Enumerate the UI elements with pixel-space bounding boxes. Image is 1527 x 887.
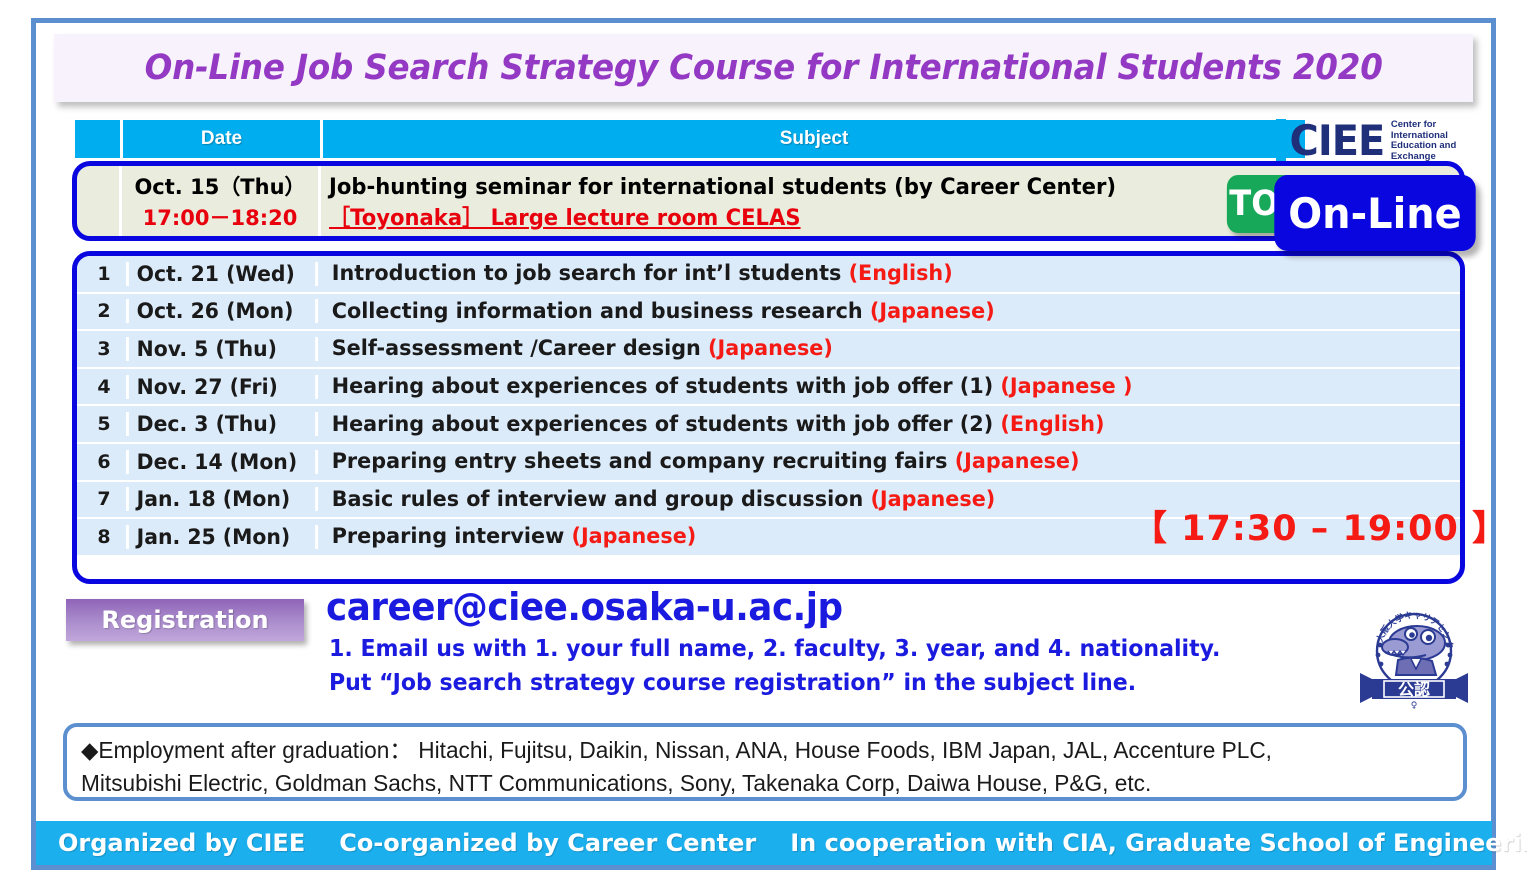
row-subject-text: Self-assessment /Career design bbox=[332, 336, 708, 361]
row-subject-text: Basic rules of interview and group discu… bbox=[332, 487, 871, 512]
ciee-tagline: Center for International Education and E… bbox=[1391, 120, 1456, 162]
row-date: Oct. 26 (Mon) bbox=[126, 299, 318, 323]
table-header-row: Date Subject bbox=[75, 120, 1305, 158]
highlight-time: 17:00－18:20 bbox=[125, 203, 315, 234]
footer-cooperation: In cooperation with CIA, Graduate School… bbox=[790, 829, 1527, 857]
page-title: On-Line Job Search Strategy Course for I… bbox=[144, 48, 1382, 88]
row-language-tag: (Japanese) bbox=[708, 336, 833, 361]
table-row: 5Dec. 3 (Thu)Hearing about experiences o… bbox=[77, 406, 1460, 442]
row-subject: Hearing about experiences of students wi… bbox=[324, 374, 1420, 399]
registration-badge: Registration bbox=[66, 599, 304, 641]
row-subject: Collecting information and business rese… bbox=[324, 299, 1420, 324]
row-subject-text: Introduction to job search for int’l stu… bbox=[332, 261, 849, 286]
highlight-seminar-box: Oct. 15（Thu） 17:00－18:20 Job-hunting sem… bbox=[72, 161, 1465, 241]
row-subject-text: Collecting information and business rese… bbox=[332, 299, 870, 324]
row-date: Jan. 18 (Mon) bbox=[126, 487, 318, 511]
row-language-tag: (Japanese) bbox=[870, 487, 995, 512]
row-number: 3 bbox=[82, 338, 126, 360]
mascot-icon: 公認 ♀ 大阪大学キャリアセンター bbox=[1354, 607, 1474, 709]
column-divider bbox=[119, 166, 122, 236]
poster-container: On-Line Job Search Strategy Course for I… bbox=[31, 18, 1496, 870]
row-number: 6 bbox=[82, 451, 126, 473]
svg-text:公認: 公認 bbox=[1398, 680, 1430, 699]
row-subject: Preparing entry sheets and company recru… bbox=[324, 449, 1420, 474]
row-language-tag: (Japanese) bbox=[571, 524, 696, 549]
table-row: 3Nov. 5 (Thu)Self-assessment /Career des… bbox=[77, 331, 1460, 367]
employment-line-2: Mitsubishi Electric, Goldman Sachs, NTT … bbox=[81, 767, 1428, 800]
row-date: Oct. 21 (Wed) bbox=[126, 262, 318, 286]
footer-organized: Organized by CIEE bbox=[58, 829, 305, 857]
column-divider bbox=[318, 166, 321, 236]
row-subject: Hearing about experiences of students wi… bbox=[324, 412, 1420, 437]
registration-instruction-line-2: Put “Job search strategy course registra… bbox=[329, 670, 1136, 696]
ciee-tagline-line-1: Center for bbox=[1391, 120, 1456, 131]
ciee-wordmark: CIEE bbox=[1289, 119, 1384, 163]
row-date: Nov. 27 (Fri) bbox=[126, 375, 318, 399]
registration-instruction-line-1: 1. Email us with 1. your full name, 2. f… bbox=[329, 636, 1220, 662]
table-header-subject: Subject bbox=[323, 120, 1305, 158]
row-language-tag: (English) bbox=[849, 261, 953, 286]
row-subject-text: Hearing about experiences of students wi… bbox=[332, 412, 1001, 437]
table-header-date: Date bbox=[123, 120, 323, 158]
ciee-logo: CIEE Center for International Education … bbox=[1276, 115, 1498, 167]
row-number: 4 bbox=[82, 376, 126, 398]
row-number: 5 bbox=[82, 413, 126, 435]
highlight-subject-line-1: Job-hunting seminar for international st… bbox=[329, 172, 1116, 203]
row-date: Dec. 14 (Mon) bbox=[126, 450, 318, 474]
row-number: 7 bbox=[82, 488, 126, 510]
row-number: 2 bbox=[82, 300, 126, 322]
row-language-tag: (Japanese) bbox=[870, 299, 995, 324]
row-subject-text: Hearing about experiences of students wi… bbox=[332, 374, 1001, 399]
footer-bar: Organized by CIEE Co-organized by Career… bbox=[36, 821, 1492, 865]
ciee-tagline-line-3: Education and bbox=[1391, 141, 1456, 152]
table-header-number bbox=[75, 120, 123, 158]
employment-box: ◆Employment after graduation： Hitachi, F… bbox=[63, 723, 1467, 801]
table-row: 2Oct. 26 (Mon)Collecting information and… bbox=[77, 294, 1460, 330]
row-date: Dec. 3 (Thu) bbox=[126, 412, 318, 436]
row-language-tag: (English) bbox=[1000, 412, 1104, 437]
table-row: 4Nov. 27 (Fri)Hearing about experiences … bbox=[77, 369, 1460, 405]
employment-line-1: ◆Employment after graduation： Hitachi, F… bbox=[81, 734, 1428, 767]
schedule-time-range: 【 17:30 – 19:00 】 bbox=[1132, 500, 1508, 551]
career-center-mascot-seal: 公認 ♀ 大阪大学キャリアセンター bbox=[1354, 607, 1474, 709]
ciee-accent-bar bbox=[1276, 119, 1286, 163]
row-subject-text: Preparing interview bbox=[332, 524, 572, 549]
svg-text:♀: ♀ bbox=[1411, 701, 1418, 709]
row-date: Nov. 5 (Thu) bbox=[126, 337, 318, 361]
row-subject: Introduction to job search for int’l stu… bbox=[324, 261, 1420, 286]
row-language-tag: (Japanese ) bbox=[1000, 374, 1132, 399]
registration-email[interactable]: career@ciee.osaka-u.ac.jp bbox=[326, 585, 843, 629]
highlight-date: Oct. 15（Thu） bbox=[125, 172, 315, 203]
row-number: 1 bbox=[82, 263, 126, 285]
table-row: 6Dec. 14 (Mon)Preparing entry sheets and… bbox=[77, 444, 1460, 480]
row-number: 8 bbox=[82, 526, 126, 548]
row-subject-text: Preparing entry sheets and company recru… bbox=[332, 449, 955, 474]
row-date: Jan. 25 (Mon) bbox=[126, 525, 318, 549]
row-subject: Self-assessment /Career design (Japanese… bbox=[324, 336, 1420, 361]
online-badge: On-Line bbox=[1274, 175, 1475, 251]
footer-coorganized: Co-organized by Career Center bbox=[339, 829, 756, 857]
table-row: 1Oct. 21 (Wed)Introduction to job search… bbox=[77, 256, 1460, 292]
row-language-tag: (Japanese) bbox=[955, 449, 1080, 474]
highlight-subject-line-2: ［Toyonaka］ Large lecture room CELAS bbox=[329, 203, 801, 234]
poster-title-bar: On-Line Job Search Strategy Course for I… bbox=[54, 34, 1473, 102]
